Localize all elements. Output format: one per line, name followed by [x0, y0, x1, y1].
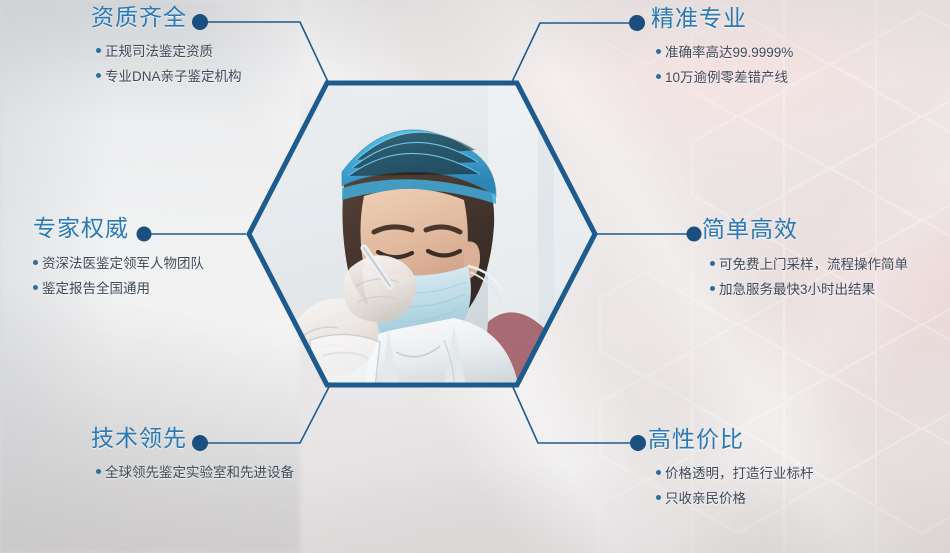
feature-precision-bullets: 准确率高达99.9999% 10万逾例零差错产线	[656, 46, 793, 85]
feature-value-bullets: 价格透明，打造行业标杆 只收亲民价格	[656, 467, 814, 506]
feature-expert[interactable]: 专家权威 资深法医鉴定领军人物团队 鉴定报告全国通用	[33, 217, 204, 296]
bullet-item: 价格透明，打造行业标杆	[656, 467, 814, 481]
feature-efficient-bullets: 可免费上门采样，流程操作简单 加急服务最快3小时出结果	[710, 258, 908, 297]
feature-technology-bullets: 全球领先鉴定实验室和先进设备	[96, 466, 294, 480]
feature-expert-bullets: 资深法医鉴定领军人物团队 鉴定报告全国通用	[33, 257, 204, 296]
bullet-dot-icon	[656, 49, 661, 54]
bullet-item: 全球领先鉴定实验室和先进设备	[96, 466, 294, 480]
bullet-item: 10万逾例零差错产线	[656, 71, 793, 85]
bullet-dot-icon	[656, 470, 661, 475]
bullet-text: 资深法医鉴定领军人物团队	[42, 257, 204, 271]
feature-efficient-title: 简单高效	[702, 218, 908, 241]
feature-efficient[interactable]: 简单高效 可免费上门采样，流程操作简单 加急服务最快3小时出结果	[702, 218, 908, 297]
bullet-text: 正规司法鉴定资质	[105, 45, 213, 59]
feature-qualification-bullets: 正规司法鉴定资质 专业DNA亲子鉴定机构	[96, 45, 242, 84]
bullet-item: 鉴定报告全国通用	[33, 282, 204, 296]
feature-precision-title: 精准专业	[651, 7, 793, 30]
bullet-item: 专业DNA亲子鉴定机构	[96, 70, 242, 84]
bullet-item: 可免费上门采样，流程操作简单	[710, 258, 908, 272]
bullet-dot-icon	[33, 285, 38, 290]
bullet-text: 专业DNA亲子鉴定机构	[105, 70, 242, 84]
bullet-text: 加急服务最快3小时出结果	[719, 283, 875, 297]
technician-photo	[238, 72, 606, 396]
feature-technology[interactable]: 技术领先 全球领先鉴定实验室和先进设备	[91, 427, 294, 480]
bullet-item: 资深法医鉴定领军人物团队	[33, 257, 204, 271]
node-efficient[interactable]	[687, 227, 702, 242]
feature-qualification-title: 资质齐全	[91, 6, 242, 29]
bullet-dot-icon	[710, 261, 715, 266]
bullet-dot-icon	[710, 286, 715, 291]
infographic-canvas: 资质齐全 正规司法鉴定资质 专业DNA亲子鉴定机构 精准专业 准确率高达99.9…	[0, 0, 950, 553]
feature-technology-title: 技术领先	[91, 427, 294, 450]
bullet-item: 只收亲民价格	[656, 492, 814, 506]
bullet-dot-icon	[33, 260, 38, 265]
bullet-text: 可免费上门采样，流程操作简单	[719, 258, 908, 272]
bullet-item: 准确率高达99.9999%	[656, 46, 793, 60]
bullet-dot-icon	[96, 48, 101, 53]
center-hexagon	[238, 72, 606, 396]
bullet-dot-icon	[96, 73, 101, 78]
node-precision[interactable]	[629, 15, 645, 31]
feature-expert-title: 专家权威	[33, 217, 204, 240]
node-value[interactable]	[630, 435, 646, 451]
bullet-text: 全球领先鉴定实验室和先进设备	[105, 466, 294, 480]
feature-value-title: 高性价比	[648, 428, 814, 451]
feature-value[interactable]: 高性价比 价格透明，打造行业标杆 只收亲民价格	[648, 428, 814, 506]
feature-precision[interactable]: 精准专业 准确率高达99.9999% 10万逾例零差错产线	[651, 7, 793, 85]
bullet-dot-icon	[656, 74, 661, 79]
bullet-text: 鉴定报告全国通用	[42, 282, 150, 296]
bullet-dot-icon	[656, 495, 661, 500]
bullet-item: 加急服务最快3小时出结果	[710, 283, 908, 297]
bullet-text: 准确率高达99.9999%	[665, 46, 793, 60]
feature-qualification[interactable]: 资质齐全 正规司法鉴定资质 专业DNA亲子鉴定机构	[91, 6, 242, 84]
bullet-text: 只收亲民价格	[665, 492, 746, 506]
bullet-dot-icon	[96, 469, 101, 474]
bullet-item: 正规司法鉴定资质	[96, 45, 242, 59]
bullet-text: 10万逾例零差错产线	[665, 71, 788, 85]
bullet-text: 价格透明，打造行业标杆	[665, 467, 814, 481]
